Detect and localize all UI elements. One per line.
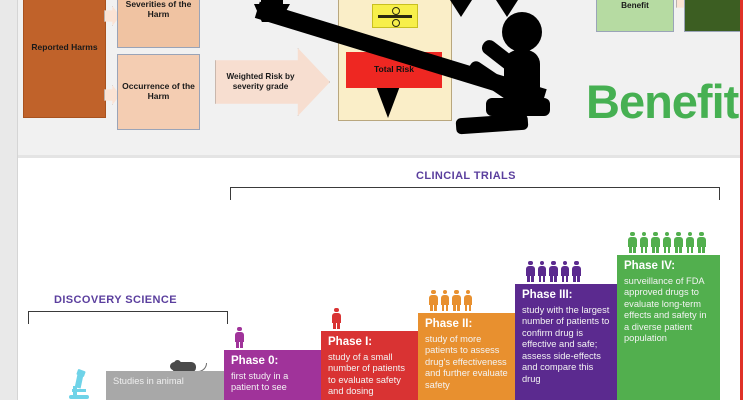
severities-of-harm-box: Severities of the Harm (117, 0, 200, 48)
occurrence-of-benefit-box: Occurrence of the Benefit (596, 0, 674, 32)
divide-icon (372, 4, 418, 28)
risk-benefit-balance-panel: Reported Harms Severities of the Harm Oc… (18, 0, 740, 155)
person-icon (441, 290, 450, 311)
phase-4-body: surveillance of FDA approved drugs to ev… (624, 276, 714, 345)
left-gutter (0, 0, 18, 400)
people-icons-phase-0 (235, 327, 244, 348)
occurrence-of-harm-box: Occurrence of the Harm (117, 54, 200, 130)
phase-2-title: Phase II: (425, 318, 509, 331)
person-icon (235, 327, 244, 348)
people-icons-phase-2 (429, 290, 473, 311)
person-icon (538, 261, 547, 282)
person-icon (549, 261, 558, 282)
person-icon (464, 290, 473, 311)
caret-icon-left (450, 0, 472, 17)
clinical-trials-label: CLINCIAL TRIALS (416, 170, 516, 182)
person-icon (651, 232, 660, 253)
phase-1-title: Phase I: (328, 336, 412, 349)
person-icon (686, 232, 695, 253)
right-white-edge (743, 0, 750, 400)
weighted-risk-arrow: Weighted Risk by severity grade (215, 48, 330, 116)
people-icons-phase-3 (526, 261, 581, 282)
phase-1-body: study of a small number of patients to e… (328, 352, 412, 398)
discovery-science-bar: Studies in animal (106, 371, 224, 400)
phase-3-body: study with the largest number of patient… (522, 305, 611, 386)
people-icons-phase-4 (628, 232, 706, 253)
phase-3-bar: Phase III: study with the largest number… (515, 284, 617, 400)
microscope-icon (68, 370, 90, 400)
person-icon (429, 290, 438, 311)
person-icon (561, 261, 570, 282)
total-benefit-box (684, 0, 740, 32)
reported-harms-box: Reported Harms (23, 0, 106, 118)
person-icon (572, 261, 581, 282)
screenshot-stage: Reported Harms Severities of the Harm Oc… (0, 0, 750, 400)
phase-0-body: first study in a patient to see (231, 371, 315, 394)
clinical-trial-phases-panel: DISCOVERY SCIENCE CLINCIAL TRIALS Studie… (18, 158, 740, 400)
phase-4-title: Phase IV: (624, 260, 714, 273)
phase-2-body: study of more patients to assess drug's … (425, 334, 509, 392)
benefit-headline: Benefit (586, 78, 738, 125)
fulcrum-triangle (376, 86, 400, 118)
left-gutter-rule (17, 0, 18, 400)
phase-3-title: Phase III: (522, 289, 611, 302)
phase-0-bar: Phase 0: first study in a patient to see (224, 350, 321, 400)
person-icon (663, 232, 672, 253)
clinical-trials-bracket (230, 187, 720, 200)
person-icon (697, 232, 706, 253)
person-icon (332, 308, 341, 329)
person-icon (526, 261, 535, 282)
discovery-science-bar-text: Studies in animal (113, 376, 218, 388)
phase-1-bar: Phase I: study of a small number of pati… (321, 331, 418, 400)
person-icon (674, 232, 683, 253)
seated-person-icon (480, 12, 568, 140)
person-icon (452, 290, 461, 311)
person-icon (640, 232, 649, 253)
phase-4-bar: Phase IV: surveillance of FDA approved d… (617, 255, 720, 400)
phase-0-title: Phase 0: (231, 355, 315, 368)
phase-2-bar: Phase II: study of more patients to asse… (418, 313, 515, 400)
discovery-science-bracket (28, 311, 228, 324)
discovery-science-label: DISCOVERY SCIENCE (54, 294, 177, 306)
people-icons-phase-1 (332, 308, 341, 329)
person-icon (628, 232, 637, 253)
